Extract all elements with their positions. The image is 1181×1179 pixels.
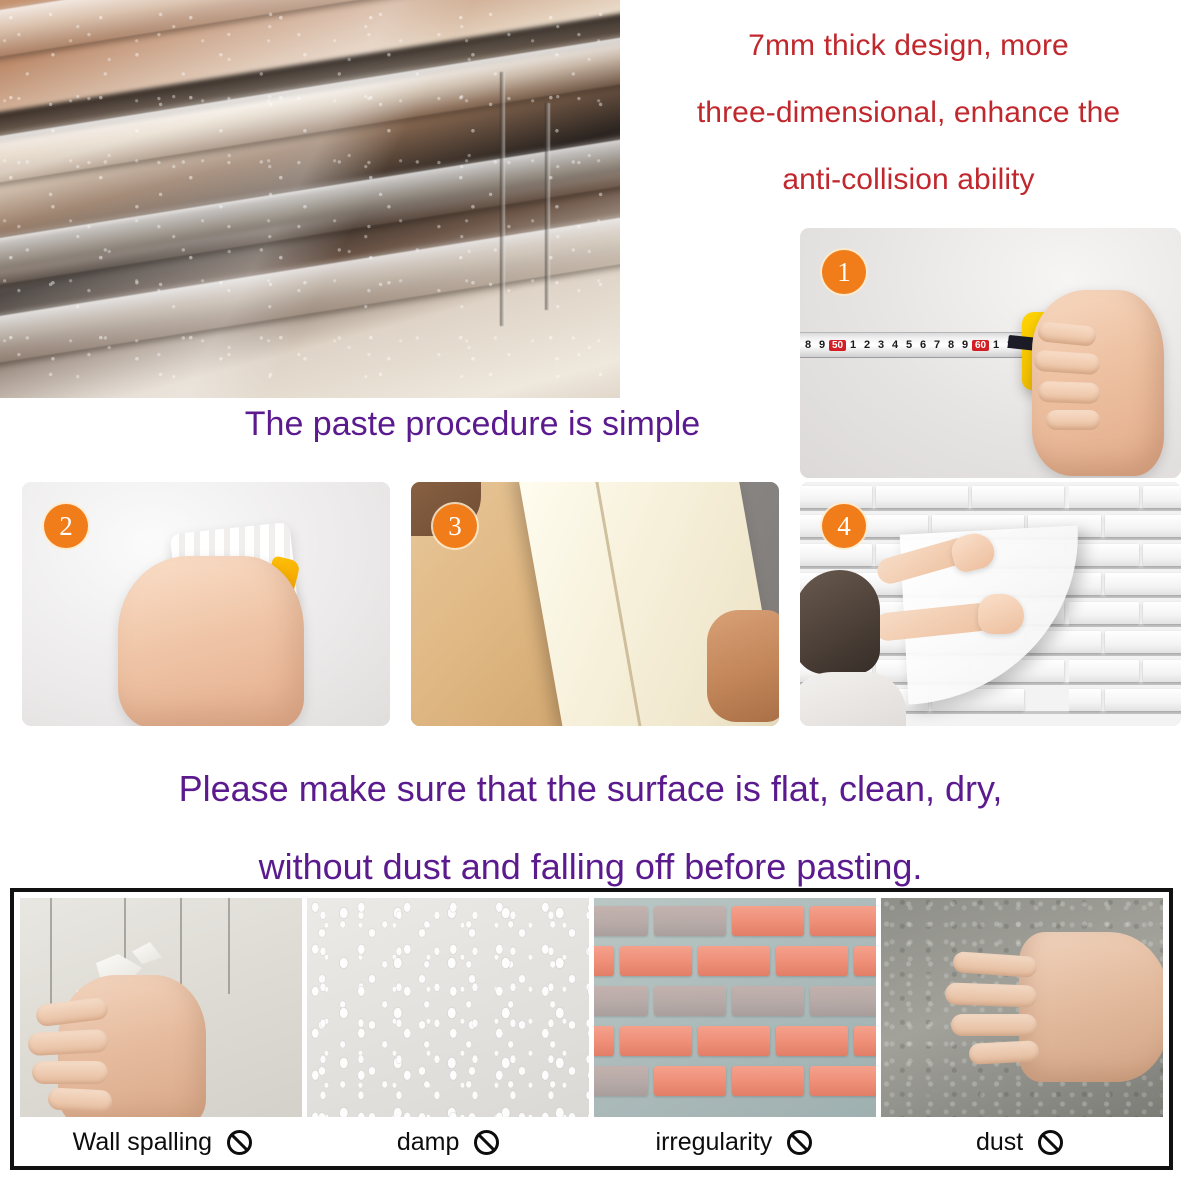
tape-tick: 9 (958, 339, 972, 351)
warning-item-wall-spalling: Wall spalling (20, 1128, 306, 1157)
tape-tick: 4 (888, 339, 902, 351)
warning-strip: Wall spalling damp irr (10, 888, 1173, 1170)
tape-tick: 8 (944, 339, 958, 351)
warning-item-dust: dust (877, 1128, 1163, 1157)
product-infographic: 7mm thick design, more three-dimensional… (0, 0, 1181, 1179)
brick (732, 1066, 804, 1096)
headline: 7mm thick design, more three-dimensional… (636, 12, 1181, 213)
brick (594, 906, 648, 936)
brick (1069, 573, 1101, 595)
brick (1105, 689, 1181, 711)
step-1-measure: 8 9 50 1 2 3 4 5 6 7 8 9 60 1 2 3 1 (800, 228, 1181, 478)
finger (32, 1061, 108, 1084)
warning-captions: Wall spalling damp irr (20, 1120, 1163, 1164)
warning-item-irregularity: irregularity (592, 1128, 878, 1157)
hand (707, 610, 779, 722)
hand (118, 556, 304, 726)
headline-line-1: 7mm thick design, more (636, 12, 1181, 79)
finger (951, 1014, 1037, 1036)
tape-tick: 5 (902, 339, 916, 351)
headline-line-3: anti-collision ability (636, 146, 1181, 213)
brick (776, 946, 848, 976)
finger (47, 1087, 112, 1112)
warning-photo-dust (881, 898, 1163, 1117)
prohibition-icon (473, 1129, 500, 1156)
tape-tick-major: 60 (972, 340, 989, 351)
brick (776, 1026, 848, 1056)
finger (27, 1029, 108, 1056)
finger (945, 982, 1038, 1007)
warning-photo-damp (307, 898, 589, 1117)
hero-product-photo (0, 0, 620, 398)
brick (654, 1066, 726, 1096)
step-badge-4: 4 (822, 504, 866, 548)
surface-caption-line-1: Please make sure that the surface is fla… (0, 750, 1181, 828)
warning-label: damp (397, 1128, 460, 1157)
step-badge-3: 3 (433, 504, 477, 548)
brick (1105, 515, 1181, 537)
warning-label: irregularity (656, 1128, 773, 1157)
step-2-clean: 2 (22, 482, 390, 726)
brick (800, 544, 872, 566)
brick (620, 946, 692, 976)
warning-label: dust (976, 1128, 1023, 1157)
tape-tick: 1 (846, 339, 860, 351)
brick-pattern (1069, 482, 1181, 726)
step-badge-1: 1 (822, 250, 866, 294)
finger (1046, 410, 1100, 430)
tape-tick: 7 (930, 339, 944, 351)
brick (1069, 486, 1139, 508)
warning-label: Wall spalling (73, 1128, 212, 1157)
prohibition-icon (226, 1129, 253, 1156)
finger (1033, 350, 1100, 376)
prohibition-icon (1037, 1129, 1064, 1156)
brick (1069, 544, 1139, 566)
brick (654, 906, 726, 936)
brick (1069, 660, 1139, 682)
brick (1143, 486, 1181, 508)
prohibition-icon (786, 1129, 813, 1156)
brick (972, 486, 1064, 508)
person-head (800, 570, 880, 674)
tape-tick: 9 (815, 339, 829, 351)
surface-requirement-caption: Please make sure that the surface is fla… (0, 750, 1181, 906)
brick (810, 1066, 876, 1096)
brick (1069, 689, 1101, 711)
hand (978, 594, 1024, 634)
step-3-peel: 3 (411, 482, 779, 726)
installed-panel-right (1069, 482, 1181, 726)
finger (35, 997, 109, 1028)
tape-tick: 8 (801, 339, 815, 351)
brick (810, 986, 876, 1016)
tape-tick: 1 (989, 339, 1003, 351)
paint-flake (132, 942, 162, 964)
brick (732, 986, 804, 1016)
step-4-apply: 4 (800, 482, 1181, 726)
hand (58, 975, 206, 1117)
brick (854, 1026, 876, 1056)
warning-photos (20, 898, 1163, 1117)
warning-photo-wall-spalling (20, 898, 302, 1117)
brick (1143, 544, 1181, 566)
brick (1105, 573, 1181, 595)
finger (952, 951, 1037, 978)
warning-item-damp: damp (306, 1128, 592, 1157)
brick (876, 486, 968, 508)
tape-tick-major: 50 (829, 340, 846, 351)
finger (968, 1040, 1039, 1065)
brick (594, 1066, 648, 1096)
finger (1038, 381, 1101, 404)
brick (698, 946, 770, 976)
step-badge-2: 2 (44, 504, 88, 548)
warning-photo-irregularity (594, 898, 876, 1117)
person-body (800, 672, 906, 726)
brick (1105, 631, 1181, 653)
tape-measure-blade: 8 9 50 1 2 3 4 5 6 7 8 9 60 1 2 3 (800, 332, 1038, 358)
brick (698, 1026, 770, 1056)
brick (594, 946, 614, 976)
brick (854, 946, 876, 976)
brick (732, 906, 804, 936)
brick (594, 1026, 614, 1056)
tape-tick: 2 (860, 339, 874, 351)
brick (810, 906, 876, 936)
tape-tick: 3 (874, 339, 888, 351)
headline-line-2: three-dimensional, enhance the (636, 79, 1181, 146)
crack (50, 898, 52, 1018)
brick (1143, 660, 1181, 682)
brick (1143, 602, 1181, 624)
tape-tick: 6 (916, 339, 930, 351)
finger (1037, 321, 1097, 347)
brick (1069, 631, 1101, 653)
brick (654, 986, 726, 1016)
hand (1032, 290, 1164, 476)
brick (620, 1026, 692, 1056)
crack (228, 898, 230, 994)
brick (1069, 602, 1139, 624)
hand (1019, 932, 1163, 1082)
stone-glitter (0, 0, 620, 398)
brick (594, 986, 648, 1016)
